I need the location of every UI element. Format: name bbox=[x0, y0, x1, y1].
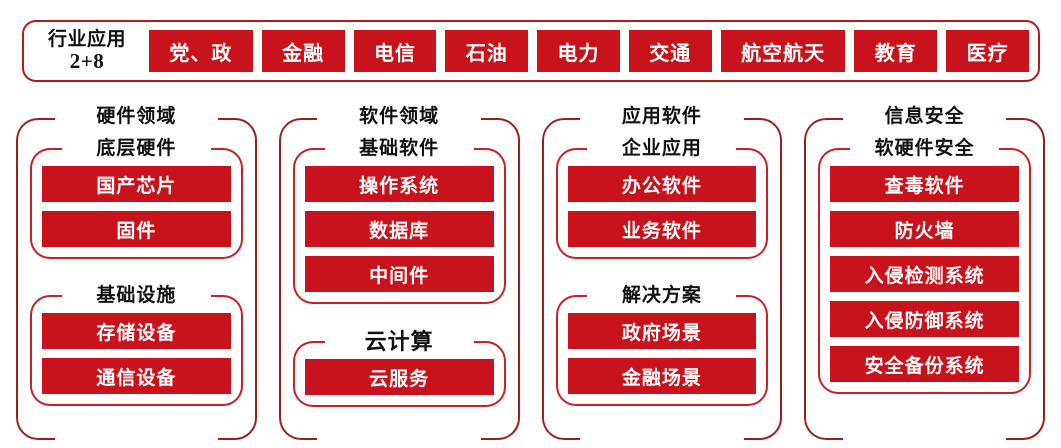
domain-group-box: 国产芯片固件 bbox=[30, 148, 243, 259]
technology-chip[interactable]: 安全备份系统 bbox=[830, 346, 1019, 382]
technology-chip[interactable]: 中间件 bbox=[305, 256, 494, 292]
domain-column: 应用软件企业应用办公软件业务软件解决方案政府场景金融场景 bbox=[542, 104, 783, 440]
group-chip-list: 国产芯片固件 bbox=[42, 166, 231, 247]
technology-chip[interactable]: 办公软件 bbox=[568, 166, 757, 202]
technology-chip[interactable]: 金融场景 bbox=[568, 358, 757, 394]
industry-chip[interactable]: 石油 bbox=[445, 30, 528, 72]
domain-group-title: 企业应用 bbox=[556, 136, 769, 161]
domain-column: 硬件领域底层硬件国产芯片固件基础设施存储设备通信设备 bbox=[16, 104, 257, 440]
domain-column-title: 软件领域 bbox=[279, 104, 520, 130]
technology-chip[interactable]: 操作系统 bbox=[305, 166, 494, 202]
industry-chip[interactable]: 电力 bbox=[537, 30, 620, 72]
industry-chip[interactable]: 金融 bbox=[262, 30, 345, 72]
domain-group: 云计算云服务 bbox=[293, 328, 506, 407]
domain-outer-box: 软件领域基础软件操作系统数据库中间件云计算云服务 bbox=[279, 118, 520, 440]
industry-chip[interactable]: 航空航天 bbox=[721, 30, 846, 72]
industry-bar-label-line1: 行业应用 bbox=[48, 29, 126, 50]
technology-chip[interactable]: 固件 bbox=[42, 211, 231, 247]
domain-column: 信息安全软硬件安全查毒软件防火墙入侵检测系统入侵防御系统安全备份系统 bbox=[804, 104, 1045, 440]
domain-group-box: 办公软件业务软件 bbox=[556, 148, 769, 259]
domain-group-box: 政府场景金融场景 bbox=[556, 295, 769, 406]
group-chip-list: 云服务 bbox=[305, 359, 494, 395]
domain-columns: 硬件领域底层硬件国产芯片固件基础设施存储设备通信设备软件领域基础软件操作系统数据… bbox=[16, 104, 1045, 440]
group-chip-list: 操作系统数据库中间件 bbox=[305, 166, 494, 292]
domain-outer-box: 信息安全软硬件安全查毒软件防火墙入侵检测系统入侵防御系统安全备份系统 bbox=[804, 118, 1045, 440]
domain-group-box: 查毒软件防火墙入侵检测系统入侵防御系统安全备份系统 bbox=[818, 148, 1031, 394]
technology-chip[interactable]: 业务软件 bbox=[568, 211, 757, 247]
technology-chip[interactable]: 防火墙 bbox=[830, 211, 1019, 247]
domain-group: 底层硬件国产芯片固件 bbox=[30, 136, 243, 259]
domain-outer-box: 硬件领域底层硬件国产芯片固件基础设施存储设备通信设备 bbox=[16, 118, 257, 440]
domain-group-title: 软硬件安全 bbox=[818, 136, 1031, 161]
group-chip-list: 存储设备通信设备 bbox=[42, 313, 231, 394]
domain-column-title: 信息安全 bbox=[804, 104, 1045, 130]
domain-group-list: 企业应用办公软件业务软件解决方案政府场景金融场景 bbox=[556, 136, 769, 410]
domain-group: 企业应用办公软件业务软件 bbox=[556, 136, 769, 259]
technology-chip[interactable]: 入侵检测系统 bbox=[830, 256, 1019, 292]
domain-group-title: 基础软件 bbox=[293, 136, 506, 161]
domain-group: 解决方案政府场景金融场景 bbox=[556, 283, 769, 406]
technology-chip[interactable]: 国产芯片 bbox=[42, 166, 231, 202]
domain-group-box: 操作系统数据库中间件 bbox=[293, 148, 506, 304]
technology-chip[interactable]: 查毒软件 bbox=[830, 166, 1019, 202]
domain-outer-box: 应用软件企业应用办公软件业务软件解决方案政府场景金融场景 bbox=[542, 118, 783, 440]
technology-chip[interactable]: 通信设备 bbox=[42, 358, 231, 394]
domain-group: 基础设施存储设备通信设备 bbox=[30, 283, 243, 406]
domain-column-title: 应用软件 bbox=[542, 104, 783, 130]
industry-bar-label: 行业应用 2+8 bbox=[33, 29, 141, 74]
industry-chip[interactable]: 交通 bbox=[629, 30, 712, 72]
outer-box-bottom-gap bbox=[317, 435, 481, 444]
domain-group-list: 软硬件安全查毒软件防火墙入侵检测系统入侵防御系统安全备份系统 bbox=[818, 136, 1031, 410]
domain-group-title: 基础设施 bbox=[30, 283, 243, 308]
domain-column: 软件领域基础软件操作系统数据库中间件云计算云服务 bbox=[279, 104, 520, 440]
outer-box-bottom-gap bbox=[55, 435, 219, 444]
domain-group-title: 云计算 bbox=[293, 328, 506, 356]
group-chip-list: 查毒软件防火墙入侵检测系统入侵防御系统安全备份系统 bbox=[830, 166, 1019, 382]
domain-group: 基础软件操作系统数据库中间件 bbox=[293, 136, 506, 304]
domain-group-list: 基础软件操作系统数据库中间件云计算云服务 bbox=[293, 136, 506, 410]
industry-chip-list: 党、政金融电信石油电力交通航空航天教育医疗 bbox=[149, 30, 1029, 72]
industry-chip[interactable]: 教育 bbox=[854, 30, 937, 72]
industry-application-bar: 行业应用 2+8 党、政金融电信石油电力交通航空航天教育医疗 bbox=[22, 20, 1040, 82]
group-chip-list: 政府场景金融场景 bbox=[568, 313, 757, 394]
domain-group-title: 底层硬件 bbox=[30, 136, 243, 161]
domain-group: 软硬件安全查毒软件防火墙入侵检测系统入侵防御系统安全备份系统 bbox=[818, 136, 1031, 394]
domain-group-title: 解决方案 bbox=[556, 283, 769, 308]
industry-chip[interactable]: 电信 bbox=[354, 30, 437, 72]
technology-chip[interactable]: 云服务 bbox=[305, 359, 494, 395]
domain-group-list: 底层硬件国产芯片固件基础设施存储设备通信设备 bbox=[30, 136, 243, 410]
domain-group-box: 存储设备通信设备 bbox=[30, 295, 243, 406]
technology-chip[interactable]: 存储设备 bbox=[42, 313, 231, 349]
industry-chip[interactable]: 党、政 bbox=[149, 30, 253, 72]
technology-chip[interactable]: 入侵防御系统 bbox=[830, 301, 1019, 337]
technology-chip[interactable]: 政府场景 bbox=[568, 313, 757, 349]
group-chip-list: 办公软件业务软件 bbox=[568, 166, 757, 247]
outer-box-bottom-gap bbox=[843, 435, 1007, 444]
industry-bar-label-line2: 2+8 bbox=[33, 50, 141, 74]
industry-chip[interactable]: 医疗 bbox=[946, 30, 1029, 72]
technology-chip[interactable]: 数据库 bbox=[305, 211, 494, 247]
domain-column-title: 硬件领域 bbox=[16, 104, 257, 130]
outer-box-bottom-gap bbox=[580, 435, 744, 444]
